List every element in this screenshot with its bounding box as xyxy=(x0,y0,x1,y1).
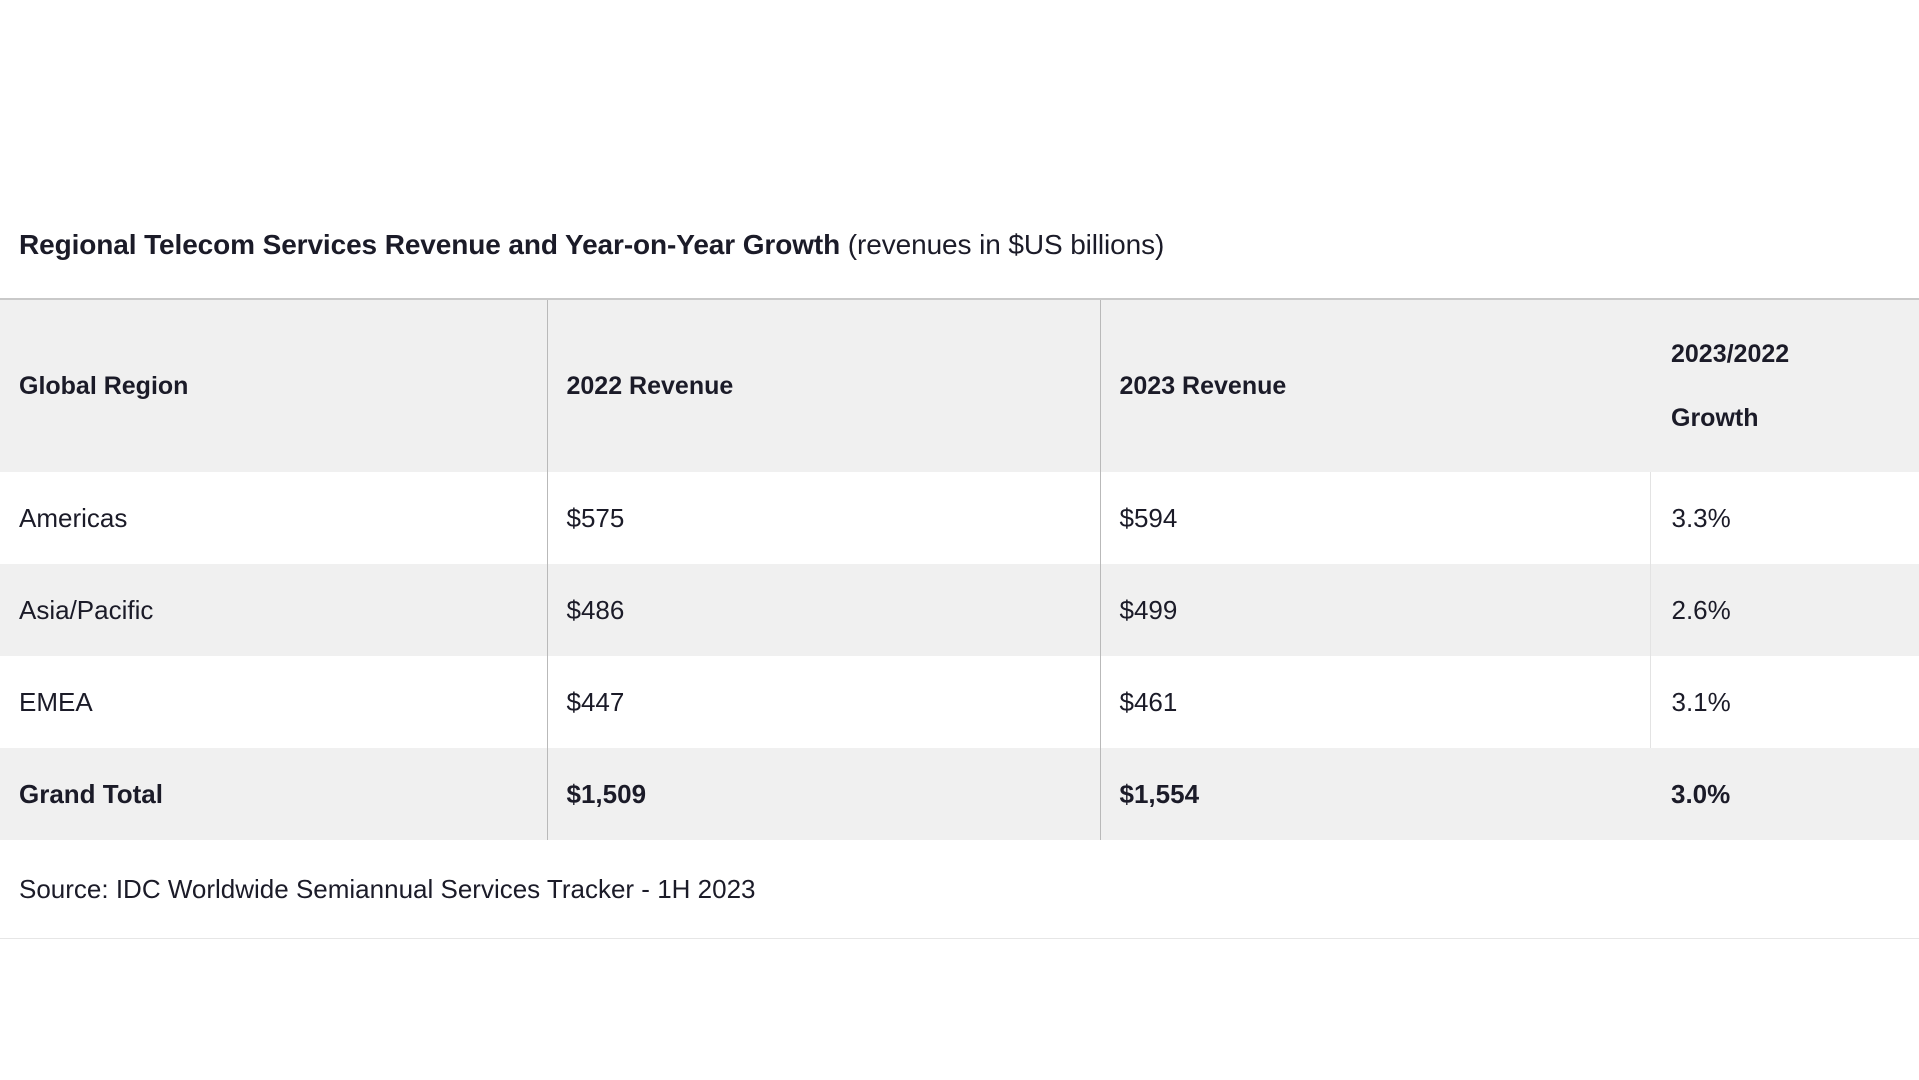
column-header-growth-line1: 2023/2022 xyxy=(1671,322,1919,386)
column-header-growth: 2023/2022 Growth xyxy=(1650,300,1919,472)
source-note: Source: IDC Worldwide Semiannual Service… xyxy=(0,840,1919,938)
page-title: Regional Telecom Services Revenue and Ye… xyxy=(19,228,1164,262)
cell-region: Asia/Pacific xyxy=(0,564,547,656)
cell-growth: 2.6% xyxy=(1650,564,1919,656)
cell-revenue-2023-total: $1,554 xyxy=(1100,748,1650,840)
column-header-revenue-2023: 2023 Revenue xyxy=(1100,300,1650,472)
cell-revenue-2023: $461 xyxy=(1100,656,1650,748)
cell-revenue-2023: $499 xyxy=(1100,564,1650,656)
table-row: Americas $575 $594 3.3% xyxy=(0,472,1919,564)
cell-region: Americas xyxy=(0,472,547,564)
table-body: Americas $575 $594 3.3% Asia/Pacific $48… xyxy=(0,472,1919,840)
cell-growth: 3.1% xyxy=(1650,656,1919,748)
table-row: Asia/Pacific $486 $499 2.6% xyxy=(0,564,1919,656)
regional-revenue-table: Global Region 2022 Revenue 2023 Revenue … xyxy=(0,300,1919,938)
page-title-subtitle: (revenues in $US billions) xyxy=(840,229,1164,260)
table-source-row: Source: IDC Worldwide Semiannual Service… xyxy=(0,840,1919,938)
data-table-container: Global Region 2022 Revenue 2023 Revenue … xyxy=(0,298,1919,939)
column-header-growth-line2: Growth xyxy=(1671,386,1919,450)
cell-revenue-2022: $447 xyxy=(547,656,1100,748)
cell-revenue-2022: $486 xyxy=(547,564,1100,656)
cell-revenue-2022-total: $1,509 xyxy=(547,748,1100,840)
cell-revenue-2022: $575 xyxy=(547,472,1100,564)
cell-growth: 3.3% xyxy=(1650,472,1919,564)
cell-region: EMEA xyxy=(0,656,547,748)
table-header-row: Global Region 2022 Revenue 2023 Revenue … xyxy=(0,300,1919,472)
column-header-growth-text: 2023/2022 Growth xyxy=(1671,322,1919,450)
table-footer: Source: IDC Worldwide Semiannual Service… xyxy=(0,840,1919,938)
cell-revenue-2023: $594 xyxy=(1100,472,1650,564)
cell-growth-total: 3.0% xyxy=(1650,748,1919,840)
page-root: Regional Telecom Services Revenue and Ye… xyxy=(0,0,1919,1080)
column-header-region: Global Region xyxy=(0,300,547,472)
table-row-grand-total: Grand Total $1,509 $1,554 3.0% xyxy=(0,748,1919,840)
page-title-main: Regional Telecom Services Revenue and Ye… xyxy=(19,229,840,260)
column-header-revenue-2022: 2022 Revenue xyxy=(547,300,1100,472)
table-row: EMEA $447 $461 3.1% xyxy=(0,656,1919,748)
table-header: Global Region 2022 Revenue 2023 Revenue … xyxy=(0,300,1919,472)
cell-region-total: Grand Total xyxy=(0,748,547,840)
